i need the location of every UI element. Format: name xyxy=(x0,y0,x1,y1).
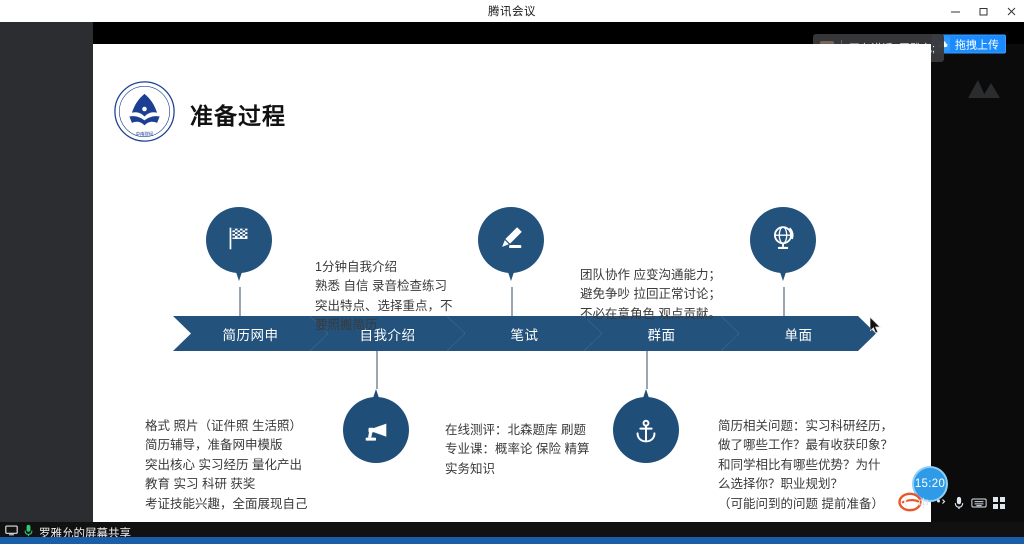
ime-toolbar[interactable]: 中 xyxy=(918,492,1005,514)
note-written-below: 在线测评：北森题库 刷题 专业课：概率论 保险 精算 实务知识 xyxy=(445,421,620,479)
page-title: 准备过程 xyxy=(190,97,286,131)
stage-label-written: 笔试 xyxy=(511,324,539,344)
meeting-stage: 拖拽上传 正在讲话: 罗雅允; 中南财经 xyxy=(0,22,1024,522)
shared-slide: 中南财经 准备过程 xyxy=(93,44,931,522)
close-icon[interactable] xyxy=(1004,4,1018,18)
megaphone-icon xyxy=(343,401,409,463)
app-title: 腾讯会议 xyxy=(0,3,1024,19)
window-titlebar: 腾讯会议 xyxy=(0,0,1024,22)
checkered-flag-icon xyxy=(206,207,272,269)
marker-written xyxy=(478,207,544,287)
marker-resume xyxy=(206,207,272,287)
note-intro-above: 1分钟自我介绍 熟悉 自信 录音检查练习 突出特点、选择重点，不 要照搬简历 xyxy=(315,258,475,336)
note-single-below: 简历相关问题：实习科研经历， 做了哪些工作？最有收获印象？ 和同学相比有哪些优势… xyxy=(718,417,913,514)
marker-group xyxy=(613,383,679,463)
minimize-icon[interactable] xyxy=(948,4,962,18)
globe-stand-icon xyxy=(750,207,816,269)
drag-upload-label: 拖拽上传 xyxy=(955,36,999,52)
stem-resume xyxy=(239,287,241,319)
mouse-cursor xyxy=(870,317,882,340)
note-resume-below: 格式 照片（证件照 生活照） 简历辅导，准备网申模版 突出核心 实习经历 量化产… xyxy=(145,417,350,514)
slide-scrollbar[interactable] xyxy=(927,44,931,522)
stem-written xyxy=(511,287,513,319)
note-group-above: 团队协作 应变沟通能力； 避免争吵 拉回正常讨论； 不必在意角色 观点贡献。 xyxy=(580,266,765,324)
stage-label-resume: 简历网申 xyxy=(223,324,279,344)
punctuation-icon[interactable] xyxy=(935,497,947,509)
meeting-side-panel xyxy=(0,22,93,522)
keyboard-icon[interactable] xyxy=(971,497,987,509)
university-seal-icon: 中南财经 xyxy=(113,80,176,143)
window-controls xyxy=(948,0,1018,22)
maximize-icon[interactable] xyxy=(976,4,990,18)
mountain-logo-icon xyxy=(958,74,1002,105)
stage-label-single: 单面 xyxy=(785,324,813,344)
stage-label-group: 群面 xyxy=(648,324,676,344)
apps-grid-icon[interactable] xyxy=(993,497,1005,509)
marker-intro xyxy=(343,383,409,463)
windows-taskbar xyxy=(0,537,1024,544)
ime-language-indicator[interactable]: 中 xyxy=(918,495,929,511)
tray-microphone-icon[interactable] xyxy=(953,496,965,510)
stage-chevron-resume[interactable]: 简历网申 xyxy=(173,316,328,351)
pen-nib-icon xyxy=(478,207,544,269)
anchor-icon xyxy=(613,401,679,463)
stem-single xyxy=(783,287,785,319)
